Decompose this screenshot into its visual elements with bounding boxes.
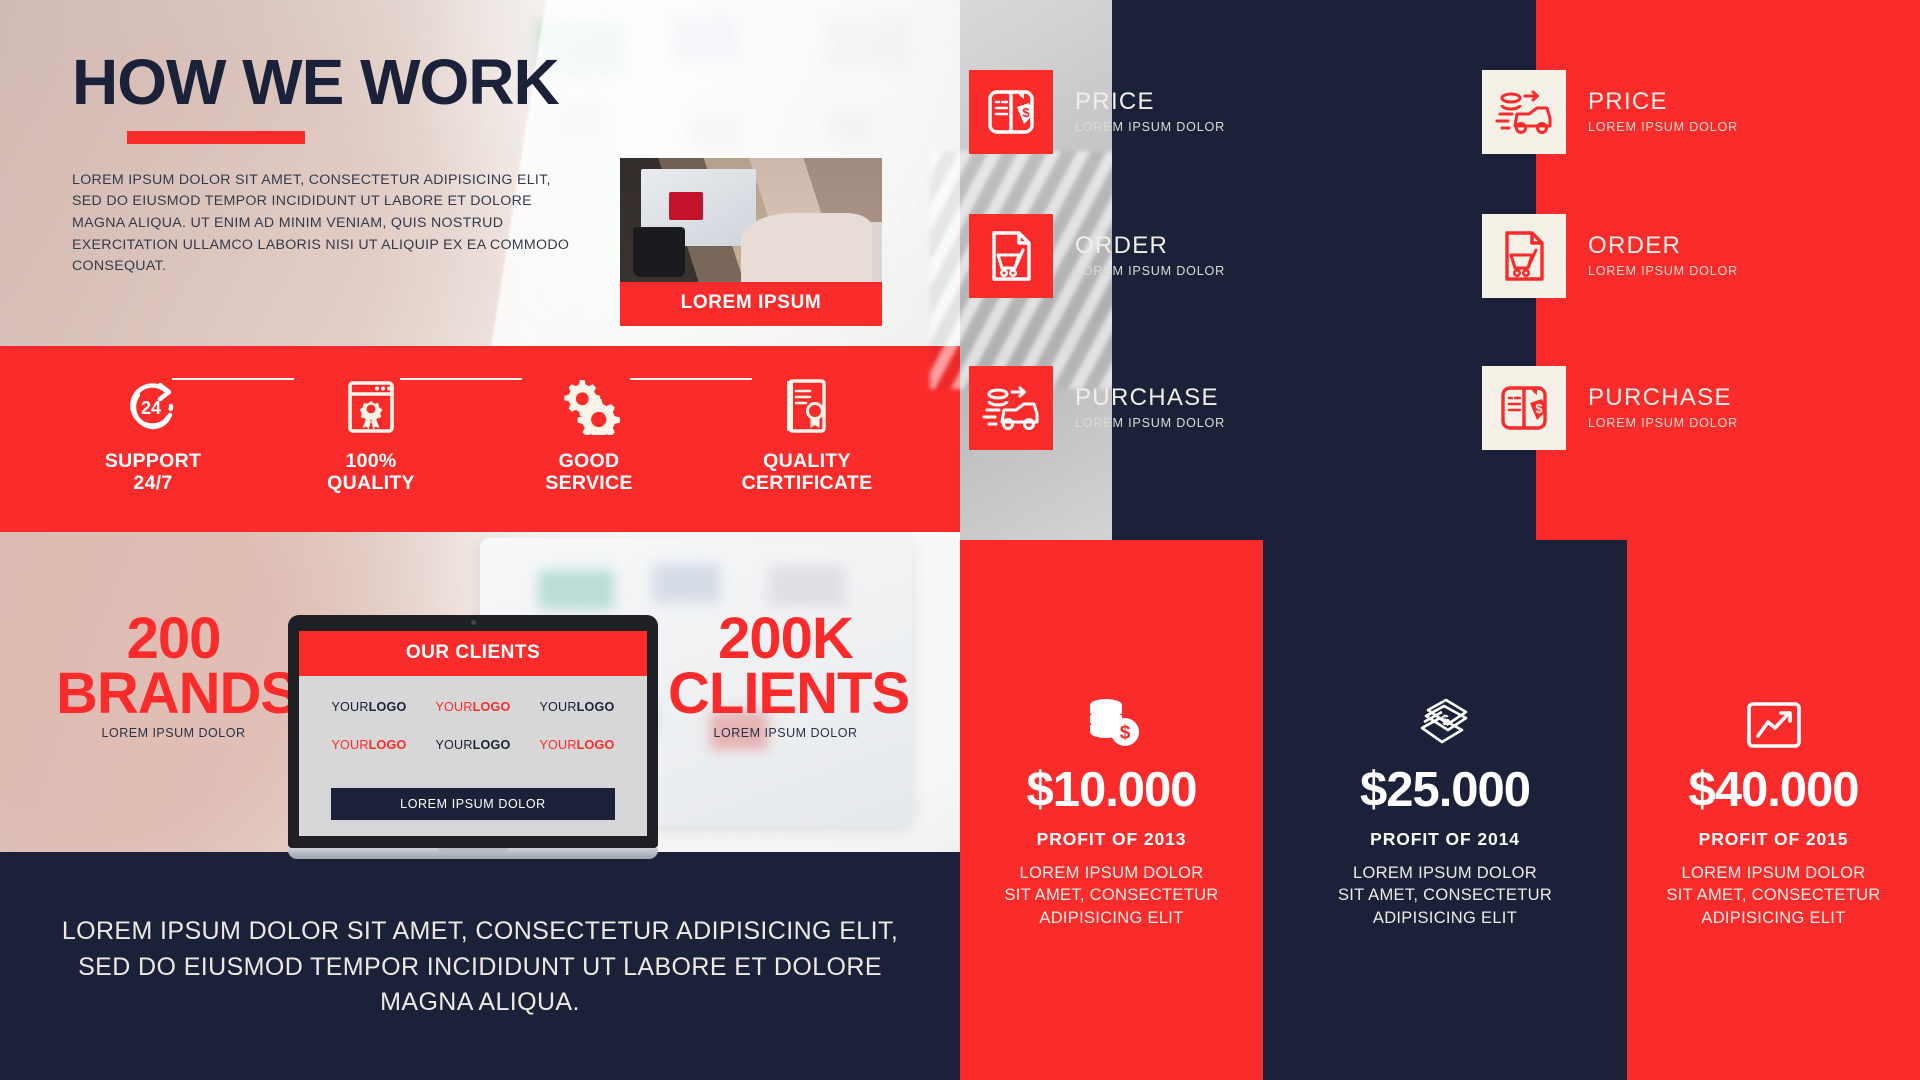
feature-subtitle: LOREM IPSUM DOLOR xyxy=(1075,416,1225,430)
profit-card-2013[interactable]: $ $10.000 PROFIT OF 2013 LOREM IPSUM DOL… xyxy=(960,540,1263,1080)
laptop-bezel: OUR CLIENTS YOURLOGO YOURLOGO YOURLOGO Y… xyxy=(288,615,658,848)
feature-text: PURCHASE LOREM IPSUM DOLOR xyxy=(1588,386,1738,430)
delivery-truck-icon xyxy=(1482,70,1566,154)
stat-brands: 200 BRANDS LOREM IPSUM DOLOR xyxy=(56,612,291,740)
connector-line-2 xyxy=(400,378,522,380)
profit-year: PROFIT OF 2013 xyxy=(960,829,1263,850)
profit-card-2015[interactable]: $40.000 PROFIT OF 2015 LOREM IPSUM DOLOR… xyxy=(1627,540,1920,1080)
logo-suffix: LOGO xyxy=(473,738,511,752)
client-logo[interactable]: YOURLOGO xyxy=(317,738,421,752)
process-item-quality[interactable]: 100% QUALITY xyxy=(296,374,446,495)
profit-amount: $25.000 xyxy=(1263,766,1627,815)
stat-clients: 200K CLIENTS LOREM IPSUM DOLOR xyxy=(668,612,903,740)
feature-purchase-right[interactable]: $ PURCHASE LOREM IPSUM DOLOR xyxy=(1482,366,1738,450)
price-tag-book-icon: $ xyxy=(1482,366,1566,450)
stat-label: CLIENTS xyxy=(668,661,909,726)
feature-price-right[interactable]: PRICE LOREM IPSUM DOLOR xyxy=(1482,70,1738,154)
feature-subtitle: LOREM IPSUM DOLOR xyxy=(1588,264,1738,278)
logo-suffix: LOGO xyxy=(577,700,615,714)
page-title: HOW WE WORK xyxy=(72,52,960,113)
svg-text:24: 24 xyxy=(141,398,161,418)
profit-description: LOREM IPSUM DOLOR SIT AMET, CONSECTETUR … xyxy=(1263,862,1627,929)
profit-amount: $40.000 xyxy=(1627,766,1920,815)
webcam-icon xyxy=(471,620,476,625)
bottom-banner: LOREM IPSUM DOLOR SIT AMET, CONSECTETUR … xyxy=(0,852,960,1080)
certificate-window-icon xyxy=(296,374,446,438)
laptop-base xyxy=(288,848,658,859)
connector-line-3 xyxy=(630,378,752,380)
connector-line-1 xyxy=(172,378,294,380)
profit-description: LOREM IPSUM DOLOR SIT AMET, CONSECTETUR … xyxy=(1627,862,1920,929)
svg-text:$: $ xyxy=(1535,401,1543,416)
bottom-banner-text: LOREM IPSUM DOLOR SIT AMET, CONSECTETUR … xyxy=(49,914,911,1021)
feature-title: PURCHASE xyxy=(1075,386,1225,410)
process-label-line2: SERVICE xyxy=(545,472,632,494)
process-label: 100% QUALITY xyxy=(296,451,446,495)
svg-text:$: $ xyxy=(1022,105,1030,120)
process-label: SUPPORT 24/7 xyxy=(78,451,228,495)
process-item-certificate[interactable]: QUALITY CERTIFICATE xyxy=(732,374,882,495)
feature-subtitle: LOREM IPSUM DOLOR xyxy=(1588,416,1738,430)
client-logo[interactable]: YOURLOGO xyxy=(525,738,629,752)
process-label-line2: CERTIFICATE xyxy=(742,472,873,494)
profit-year: PROFIT OF 2015 xyxy=(1627,829,1920,850)
award-document-icon xyxy=(732,374,882,438)
logo-suffix: LOGO xyxy=(369,700,407,714)
stat-subtitle: LOREM IPSUM DOLOR xyxy=(56,726,291,740)
feature-subtitle: LOREM IPSUM DOLOR xyxy=(1588,120,1738,134)
feature-price-left[interactable]: $ PRICE LOREM IPSUM DOLOR xyxy=(969,70,1225,154)
logo-prefix: YOUR xyxy=(539,738,576,752)
client-logo[interactable]: YOURLOGO xyxy=(421,700,525,714)
growth-chart-icon xyxy=(1627,688,1920,752)
feature-purchase-left[interactable]: PURCHASE LOREM IPSUM DOLOR xyxy=(969,366,1225,450)
laptop-screen: OUR CLIENTS YOURLOGO YOURLOGO YOURLOGO Y… xyxy=(299,631,647,836)
profit-card-2014[interactable]: $ $25.000 PROFIT OF 2014 LOREM IPSUM DOL… xyxy=(1263,540,1627,1080)
feature-subtitle: LOREM IPSUM DOLOR xyxy=(1075,120,1225,134)
process-label: QUALITY CERTIFICATE xyxy=(732,451,882,495)
left-column: HOW WE WORK LOREM IPSUM DOLOR SIT AMET, … xyxy=(0,0,960,1080)
profit-amount: $10.000 xyxy=(960,766,1263,815)
client-logo[interactable]: YOURLOGO xyxy=(525,700,629,714)
screen-header: OUR CLIENTS xyxy=(299,631,647,676)
title-underline-rule xyxy=(127,131,305,144)
feature-order-left[interactable]: ORDER LOREM IPSUM DOLOR xyxy=(969,214,1225,298)
feature-title: PRICE xyxy=(1588,90,1738,114)
order-cart-doc-icon xyxy=(1482,214,1566,298)
logo-suffix: LOGO xyxy=(369,738,407,752)
feature-title: PRICE xyxy=(1075,90,1225,114)
profit-description: LOREM IPSUM DOLOR SIT AMET, CONSECTETUR … xyxy=(960,862,1263,929)
client-logo-grid: YOURLOGO YOURLOGO YOURLOGO YOURLOGO YOUR xyxy=(299,676,647,752)
process-item-support[interactable]: 24 SUPPORT 24/7 xyxy=(78,374,228,495)
logo-prefix: YOUR xyxy=(331,700,368,714)
logo-prefix: YOUR xyxy=(435,738,472,752)
gears-icon xyxy=(514,374,664,438)
process-strip: 24 SUPPORT 24/7 xyxy=(0,346,960,532)
feature-text: PURCHASE LOREM IPSUM DOLOR xyxy=(1075,386,1225,430)
right-column: $ PRICE LOREM IPSUM DOLOR ORDE xyxy=(960,0,1920,1080)
photo-caption: LOREM IPSUM xyxy=(620,282,882,326)
hero-description: LOREM IPSUM DOLOR SIT AMET, CONSECTETUR … xyxy=(72,170,577,278)
hero-photo-card: LOREM IPSUM xyxy=(620,158,882,326)
feature-subtitle: LOREM IPSUM DOLOR xyxy=(1075,264,1225,278)
delivery-truck-icon xyxy=(969,366,1053,450)
feature-text: ORDER LOREM IPSUM DOLOR xyxy=(1588,234,1738,278)
stat-subtitle: LOREM IPSUM DOLOR xyxy=(668,726,903,740)
process-label-line1: SUPPORT xyxy=(105,450,201,472)
profit-year: PROFIT OF 2014 xyxy=(1263,829,1627,850)
svg-text:$: $ xyxy=(1119,723,1130,744)
stat-value: 200 BRANDS xyxy=(56,612,291,721)
process-item-service[interactable]: GOOD SERVICE xyxy=(514,374,664,495)
logo-suffix: LOGO xyxy=(473,700,511,714)
process-label-line2: QUALITY xyxy=(327,472,415,494)
client-logo[interactable]: YOURLOGO xyxy=(317,700,421,714)
workspace-photo xyxy=(620,158,882,282)
process-label-line2: 24/7 xyxy=(133,472,172,494)
feature-order-right[interactable]: ORDER LOREM IPSUM DOLOR xyxy=(1482,214,1738,298)
feature-title: ORDER xyxy=(1075,234,1225,258)
logo-prefix: YOUR xyxy=(435,700,472,714)
coin-stack-icon: $ xyxy=(960,688,1263,752)
logo-prefix: YOUR xyxy=(539,700,576,714)
client-logo[interactable]: YOURLOGO xyxy=(421,738,525,752)
feature-title: ORDER xyxy=(1588,234,1738,258)
money-bills-icon: $ xyxy=(1263,688,1627,752)
stat-value: 200K CLIENTS xyxy=(668,612,903,721)
profit-cards-zone: $ $10.000 PROFIT OF 2013 LOREM IPSUM DOL… xyxy=(960,540,1920,1080)
logo-suffix: LOGO xyxy=(577,738,615,752)
process-label-line1: QUALITY xyxy=(763,450,851,472)
process-label-line1: GOOD xyxy=(559,450,620,472)
order-cart-doc-icon xyxy=(969,214,1053,298)
laptop-mockup: OUR CLIENTS YOURLOGO YOURLOGO YOURLOGO Y… xyxy=(288,615,658,859)
screen-cta-button[interactable]: LOREM IPSUM DOLOR xyxy=(331,788,615,820)
feature-title: PURCHASE xyxy=(1588,386,1738,410)
price-tag-book-icon: $ xyxy=(969,70,1053,154)
process-label-line1: 100% xyxy=(345,450,396,472)
feature-text: ORDER LOREM IPSUM DOLOR xyxy=(1075,234,1225,278)
logo-prefix: YOUR xyxy=(331,738,368,752)
feature-text: PRICE LOREM IPSUM DOLOR xyxy=(1075,90,1225,134)
stat-label: BRANDS xyxy=(56,661,298,726)
feature-text: PRICE LOREM IPSUM DOLOR xyxy=(1588,90,1738,134)
clock-24-icon: 24 xyxy=(78,374,228,438)
process-label: GOOD SERVICE xyxy=(514,451,664,495)
infographic-stage: HOW WE WORK LOREM IPSUM DOLOR SIT AMET, … xyxy=(0,0,1920,1080)
